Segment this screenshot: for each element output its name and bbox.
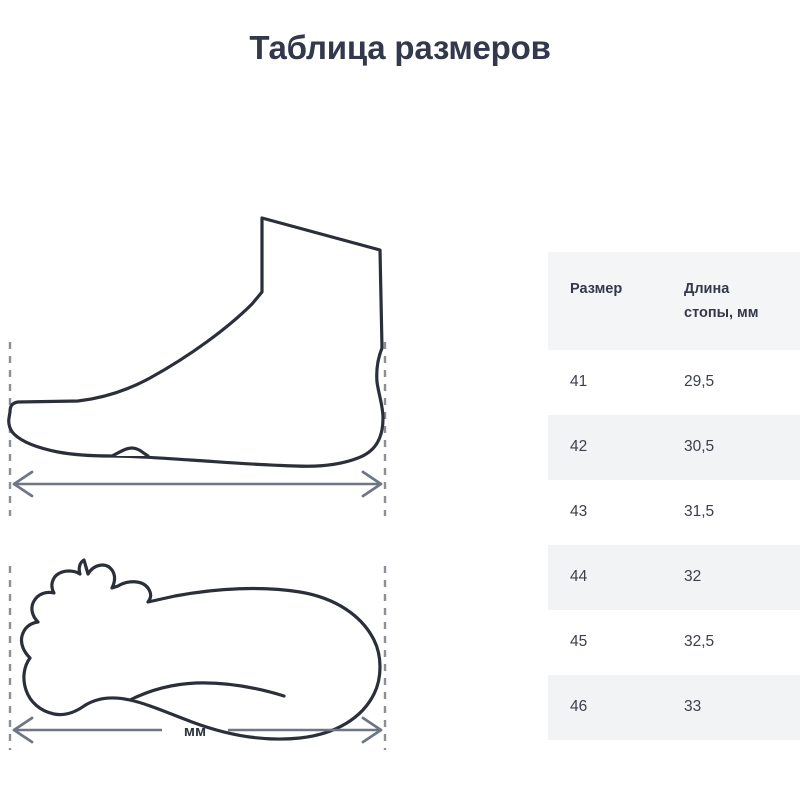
cell-size: 45	[548, 610, 672, 675]
table-header-row: Размер Длинастопы, мм	[548, 252, 800, 350]
foot-sole-outline	[21, 560, 380, 739]
cell-length: 31,5	[672, 480, 800, 545]
cell-length: 29,5	[672, 350, 800, 415]
size-table: Размер Длинастопы, мм 41 29,5 42 30,5 43…	[548, 252, 800, 740]
column-header-length: Длинастопы, мм	[672, 252, 800, 350]
foot-side-view-group	[9, 218, 385, 516]
table-row[interactable]: 46 33	[548, 675, 800, 740]
cell-length: 30,5	[672, 415, 800, 480]
cell-size: 43	[548, 480, 672, 545]
size-table-head: Размер Длинастопы, мм	[548, 252, 800, 350]
sole-view-dimension-label: мм	[184, 723, 206, 740]
table-row[interactable]: 45 32,5	[548, 610, 800, 675]
foot-sole-view-group: мм	[10, 560, 385, 750]
foot-diagram-svg: мм	[0, 200, 420, 770]
foot-measurement-diagram: мм	[0, 200, 420, 770]
cell-size: 41	[548, 350, 672, 415]
table-row[interactable]: 41 29,5	[548, 350, 800, 415]
column-header-length-line2: стопы, мм	[684, 305, 758, 321]
cell-length: 32	[672, 545, 800, 610]
cell-size: 42	[548, 415, 672, 480]
page-title: Таблица размеров	[0, 28, 800, 68]
cell-size: 44	[548, 545, 672, 610]
table-row[interactable]: 43 31,5	[548, 480, 800, 545]
cell-size: 46	[548, 675, 672, 740]
foot-side-outline	[9, 218, 383, 466]
column-header-size: Размер	[548, 252, 672, 350]
cell-length: 32,5	[672, 610, 800, 675]
size-table-body: 41 29,5 42 30,5 43 31,5 44 32 45 32,5 46…	[548, 350, 800, 740]
column-header-length-line1: Длина	[684, 281, 729, 297]
table-row[interactable]: 42 30,5	[548, 415, 800, 480]
size-table-container: Размер Длинастопы, мм 41 29,5 42 30,5 43…	[548, 252, 800, 740]
table-row[interactable]: 44 32	[548, 545, 800, 610]
cell-length: 33	[672, 675, 800, 740]
